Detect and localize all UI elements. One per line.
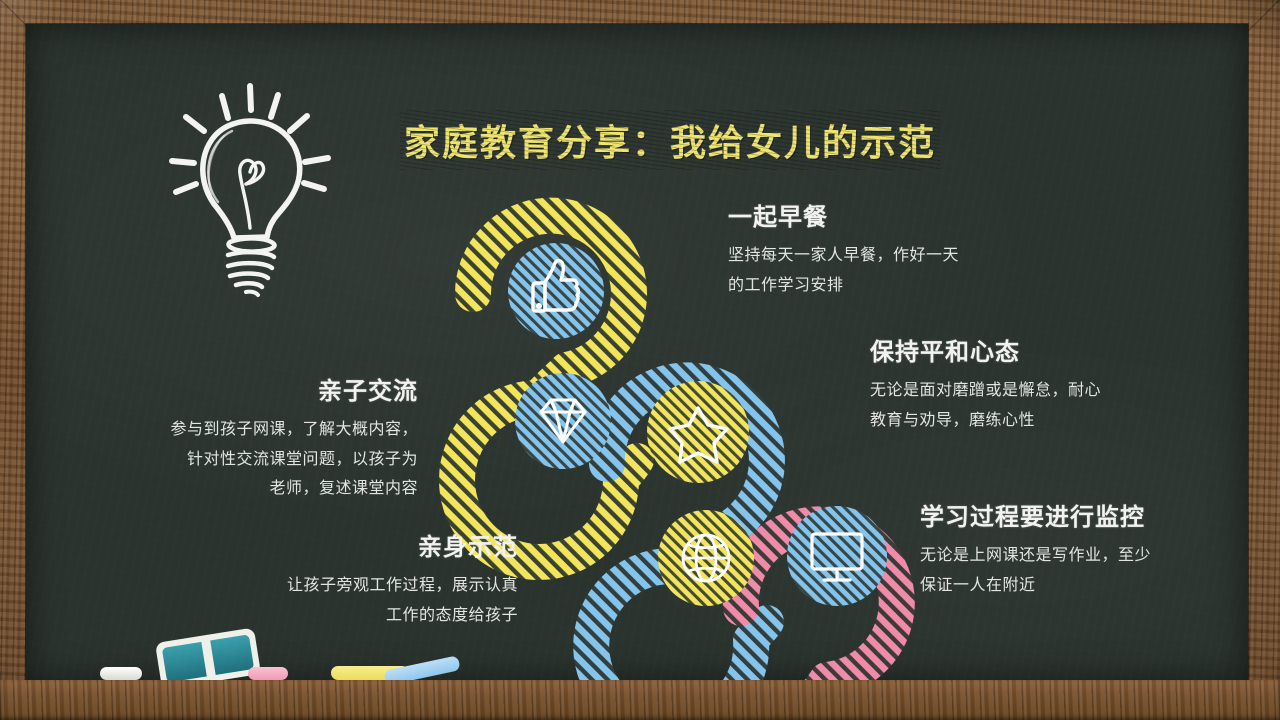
item-parent-child-talk: 亲子交流 参与到孩子网课，了解大概内容， 针对性交流课堂问题，以孩子为 老师，复… xyxy=(108,371,418,504)
item-heading: 亲身示范 xyxy=(208,527,518,562)
disc-blue xyxy=(515,373,611,469)
node-monitor xyxy=(787,506,887,606)
chalk-blue xyxy=(383,655,460,682)
item-line: 工作的态度给孩子 xyxy=(208,601,518,631)
item-heading: 一起早餐 xyxy=(728,197,1028,232)
page-title: 家庭教育分享：我给女儿的示范 xyxy=(404,114,936,166)
node-star xyxy=(647,381,749,483)
chalk-white xyxy=(100,667,142,680)
item-line: 无论是面对磨蹭或是懈怠，耐心 xyxy=(870,376,1200,406)
node-diamond xyxy=(515,373,611,469)
disc-blue xyxy=(508,243,604,339)
item-line: 坚持每天一家人早餐，作好一天 xyxy=(728,241,1028,271)
item-breakfast: 一起早餐 坚持每天一家人早餐，作好一天 的工作学习安排 xyxy=(728,197,1028,300)
blackboard-eraser xyxy=(155,627,261,682)
chalkboard: 家庭教育分享：我给女儿的示范 xyxy=(26,24,1248,682)
item-heading: 亲子交流 xyxy=(108,371,418,406)
item-line: 让孩子旁观工作过程，展示认真 xyxy=(208,571,518,601)
item-lead-by-example: 亲身示范 让孩子旁观工作过程，展示认真 工作的态度给孩子 xyxy=(208,527,518,630)
node-globe xyxy=(658,510,754,606)
item-line: 的工作学习安排 xyxy=(728,271,1028,301)
item-calm-mindset: 保持平和心态 无论是面对磨蹭或是懈怠，耐心 教育与劝导，磨练心性 xyxy=(870,332,1200,435)
chalk-pink xyxy=(248,667,288,680)
item-line: 针对性交流课堂问题，以孩子为 xyxy=(108,445,418,475)
item-line: 保证一人在附近 xyxy=(920,571,1248,601)
item-line: 老师，复述课堂内容 xyxy=(108,474,418,504)
item-line: 教育与劝导，磨练心性 xyxy=(870,406,1200,436)
chalk-lightbulb-icon xyxy=(164,76,339,301)
disc-yellow xyxy=(647,381,749,483)
item-line: 无论是上网课还是写作业，至少 xyxy=(920,541,1248,571)
disc-blue xyxy=(787,506,887,606)
item-heading: 学习过程要进行监控 xyxy=(920,497,1248,532)
chalk-ledge xyxy=(0,680,1280,720)
slide-root: 家庭教育分享：我给女儿的示范 xyxy=(0,0,1280,720)
item-heading: 保持平和心态 xyxy=(870,332,1200,367)
item-monitor-study: 学习过程要进行监控 无论是上网课还是写作业，至少 保证一人在附近 xyxy=(920,497,1248,600)
node-thumbs-up xyxy=(508,243,604,339)
item-line: 参与到孩子网课，了解大概内容， xyxy=(108,415,418,445)
